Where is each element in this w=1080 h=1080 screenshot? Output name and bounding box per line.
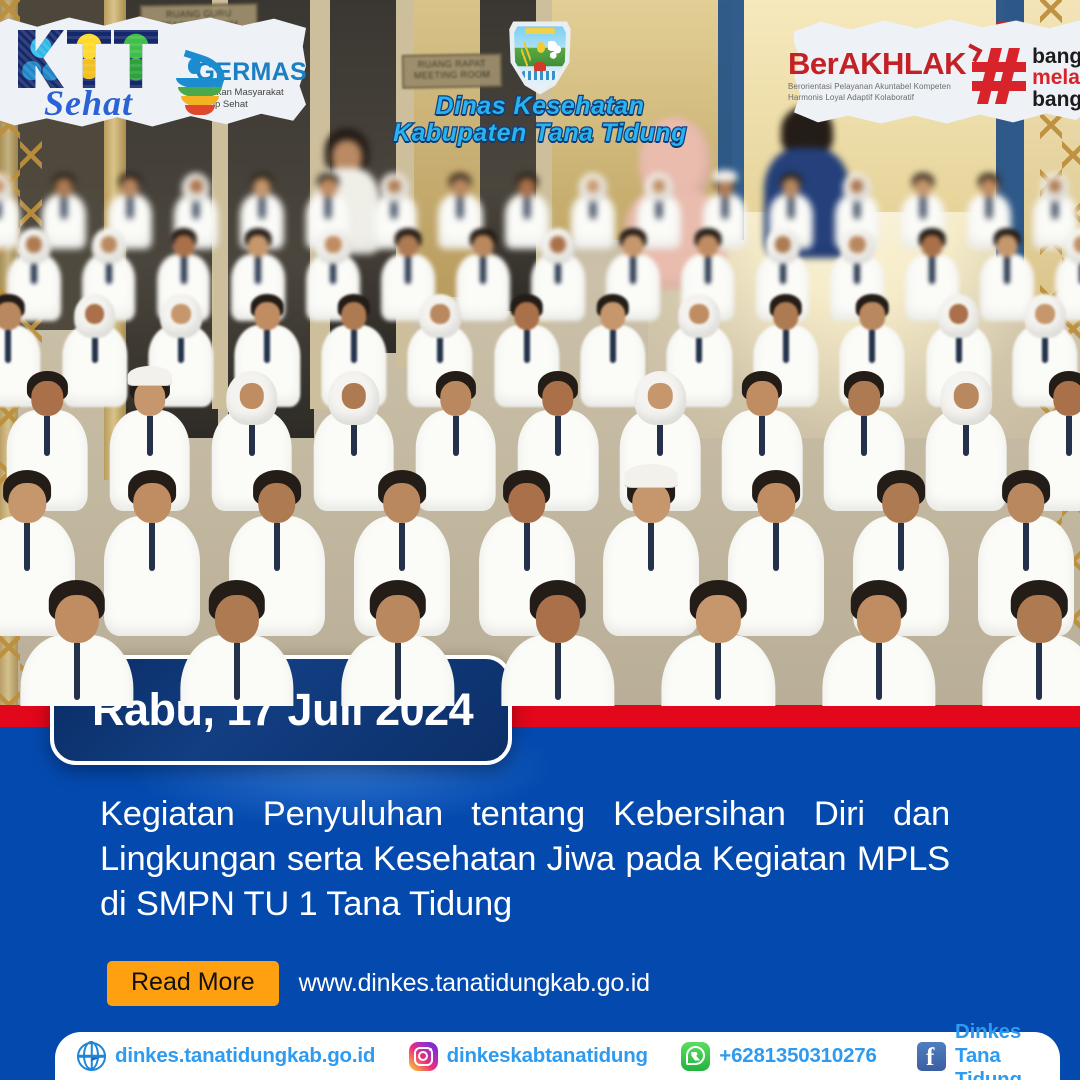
promotional-poster: RUANG GURUTEACHER ROOM RUANG RAPATMEETIN… (0, 0, 1080, 1080)
event-description: Kegiatan Penyuluhan tentang Kebersihan D… (100, 792, 950, 928)
berakhlak-slogan-line2: melayani (1032, 67, 1080, 88)
ktt-letters (18, 30, 158, 88)
germas-logo: GERMAS Gerakan Masyarakat Hidup Sehat (172, 46, 307, 124)
footer-item-facebook[interactable]: f Dinkes Tana Tidung (917, 1020, 1060, 1080)
regency-emblem-icon (508, 20, 572, 96)
footer-label-facebook: Dinkes Tana Tidung (955, 1020, 1060, 1080)
footer-label-website: dinkes.tanatidungkab.go.id (115, 1044, 375, 1068)
footer-item-whatsapp[interactable]: +6281350310276 (681, 1042, 876, 1071)
germas-mark-icon (172, 54, 187, 116)
berakhlak-slogan-line3: bangsa (1032, 89, 1080, 110)
berakhlak-subtitle-line2: Harmonis Loyal Adaptif Kolaboratif (788, 93, 966, 104)
facebook-icon: f (917, 1042, 946, 1071)
berakhlak-title: BerAKHLAK (788, 48, 966, 79)
hashtag-icon (972, 48, 1026, 104)
berakhlak-subtitle-line1: Berorientasi Pelayanan Akuntabel Kompete… (788, 82, 966, 93)
berakhlak-logo: BerAKHLAK Berorientasi Pelayanan Akuntab… (788, 42, 1056, 128)
ktt-letter-t2-icon (114, 30, 158, 88)
ktt-tagline: Sehat (44, 82, 133, 124)
berakhlak-slogan-line1: bangga (1032, 46, 1080, 67)
read-more-button[interactable]: Read More (107, 961, 279, 1006)
dinas-kesehatan-header: Dinas Kesehatan Kabupaten Tana Tidung (390, 20, 690, 148)
whatsapp-icon (681, 1042, 710, 1071)
ktt-letter-k-icon (18, 30, 64, 88)
footer-item-website[interactable]: dinkes.tanatidungkab.go.id (77, 1042, 375, 1071)
website-url: www.dinkes.tanatidungkab.go.id (299, 969, 650, 998)
crowd-rows (0, 184, 1080, 706)
globe-icon (77, 1042, 106, 1071)
footer-label-instagram: dinkeskabtanatidung (447, 1044, 648, 1068)
footer-item-instagram[interactable]: dinkeskabtanatidung (409, 1042, 648, 1071)
instagram-icon (409, 1042, 438, 1071)
ktt-sehat-logo: Sehat (18, 30, 168, 135)
footer-label-whatsapp: +6281350310276 (719, 1044, 876, 1068)
ktt-letter-t1-icon (67, 30, 111, 88)
dinkes-line2: Kabupaten Tana Tidung (390, 119, 690, 148)
contact-footer-bar: dinkes.tanatidungkab.go.id dinkeskabtana… (55, 1032, 1060, 1080)
cta-row: Read More www.dinkes.tanatidungkab.go.id (107, 961, 650, 1006)
dinkes-line1: Dinas Kesehatan (390, 92, 690, 121)
